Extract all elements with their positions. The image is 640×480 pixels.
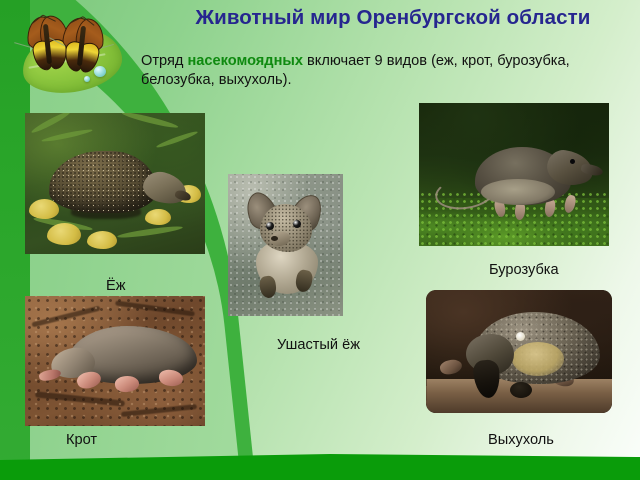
photo-content xyxy=(419,103,609,246)
eared-hedgehog-nose xyxy=(271,236,278,241)
eared-hedgehog-eye xyxy=(266,222,274,230)
caption-desman: Выхухоль xyxy=(488,432,554,448)
water-droplet-icon xyxy=(94,66,106,77)
slide-canvas: Животный мир Оренбургской области Отряд … xyxy=(0,0,640,480)
hedgehog-body xyxy=(49,151,157,213)
eared-hedgehog-eye xyxy=(293,220,301,228)
body-paragraph: Отряд насекомоядных включает 9 видов (еж… xyxy=(141,52,625,90)
photo-content xyxy=(228,174,343,316)
shrew-eye xyxy=(570,159,575,164)
photo-content xyxy=(426,290,612,413)
shrew-belly xyxy=(481,179,555,205)
water-droplet-icon xyxy=(84,76,90,82)
hedgehog-photo xyxy=(25,113,205,254)
fallen-leaf xyxy=(145,209,171,225)
shrew-photo xyxy=(419,103,609,246)
mole-photo xyxy=(25,296,205,426)
caption-mole: Крот xyxy=(66,432,97,448)
page-title: Животный мир Оренбургской области xyxy=(150,6,636,30)
body-prefix: Отряд xyxy=(141,53,187,69)
hedgehog-spines xyxy=(49,151,157,213)
photo-content xyxy=(25,296,205,426)
desman-foot xyxy=(510,382,532,398)
caption-shrew: Бурозубка xyxy=(489,262,559,278)
desman-eye-spot xyxy=(516,332,525,341)
desman-photo xyxy=(426,290,612,413)
desman-belly xyxy=(512,342,564,376)
leaf-with-butterflies-decoration xyxy=(8,14,130,100)
photo-content xyxy=(25,113,205,254)
fallen-leaf xyxy=(87,231,117,249)
caption-hedgehog: Ёж xyxy=(106,278,126,294)
caption-eared-hedgehog: Ушастый ёж xyxy=(277,337,360,353)
body-highlight-term: насекомоядных xyxy=(187,53,303,69)
fallen-leaf xyxy=(47,223,81,245)
eared-hedgehog-photo xyxy=(228,174,343,316)
